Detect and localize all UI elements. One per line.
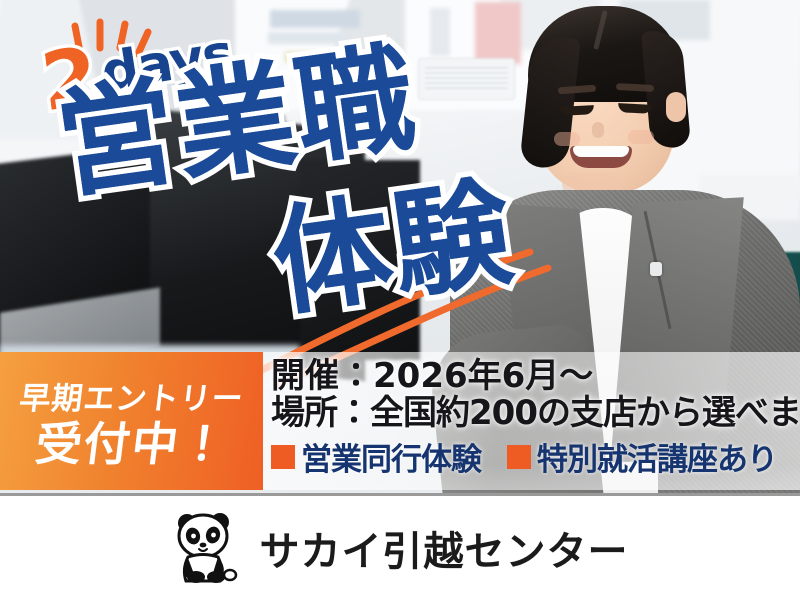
panda-mascot-icon: [172, 509, 244, 587]
advertisement-poster: 2 2 days days 営業職 営業職 体験 体験 早期エントリー 受付中！…: [0, 0, 800, 600]
event-info-panel: 開催：2026年6月〜 場所：全国約200の支店から選べます 営業同行体験 特別…: [263, 352, 800, 490]
event-date: 開催：2026年6月〜: [271, 358, 800, 395]
accepting-now-label: 受付中！: [33, 420, 231, 468]
ear: [666, 92, 686, 122]
teeth: [573, 146, 629, 157]
bullet-square-icon: [271, 445, 295, 469]
early-entry-label: 早期エントリー: [17, 373, 247, 418]
nose: [592, 122, 604, 138]
headline: 営業職 営業職 体験 体験: [40, 78, 510, 348]
cheek-left: [554, 132, 580, 146]
lapel-pin: [650, 262, 662, 276]
bullet-square-icon: [507, 445, 531, 469]
feature-item-2: 特別就活講座あり: [537, 434, 777, 479]
feature-item-1: 営業同行体験: [301, 434, 481, 479]
whiteboard-note: [270, 10, 360, 28]
smiling-mouth: [570, 146, 632, 168]
event-features: 営業同行体験 特別就活講座あり: [271, 434, 800, 479]
company-name: サカイ引越センター: [260, 519, 629, 577]
headline-line-2-fill: 体験: [266, 173, 520, 323]
wall-poster: [430, 8, 450, 56]
cheek-right: [628, 130, 654, 144]
early-entry-badge: 早期エントリー 受付中！: [0, 352, 263, 490]
event-location: 場所：全国約200の支店から選べます: [271, 395, 800, 432]
footer: サカイ引越センター: [0, 496, 800, 600]
